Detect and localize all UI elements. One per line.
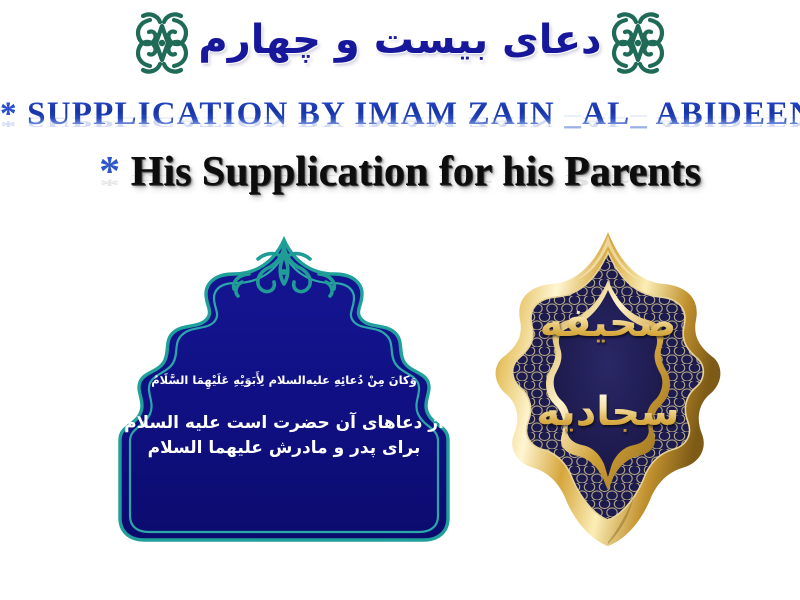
english-subtitle-text: SUPPLICATION BY IMAM ZAIN _AL_ ABIDEEN <box>27 96 800 132</box>
persian-title: دعای بیست و چهارم <box>198 20 601 66</box>
arabesque-ornament-left-icon <box>130 10 194 76</box>
english-title-marker: * <box>99 149 120 195</box>
emblem-shape <box>492 228 724 550</box>
plaque-arabic-line: وَكانَ مِنْ دُعائِهِ عليه‌السلام لِأَبَو… <box>124 372 444 389</box>
blue-plaque: وَكانَ مِنْ دُعائِهِ عليه‌السلام لِأَبَو… <box>108 222 460 562</box>
persian-title-row: دعای بیست و چهارم <box>0 2 800 84</box>
sahifa-sajjadiya-emblem: صحیفه سجادیه <box>492 228 724 550</box>
plaque-persian-line-2: برای پدر و مادرش علیهما السلام <box>124 436 444 461</box>
english-title-text: His Supplication for his Parents <box>131 149 701 195</box>
poster-canvas: دعای بیست و چهارم * SUPPLICATION BY <box>0 0 800 600</box>
english-title: * His Supplication for his Parents <box>0 148 800 196</box>
english-subtitle-marker: * <box>0 96 18 132</box>
plaque-persian-line-1: از دعاهای آن حضرت است علیه السلام <box>124 411 444 436</box>
english-subtitle: * SUPPLICATION BY IMAM ZAIN _AL_ ABIDEEN <box>0 96 800 133</box>
arabesque-ornament-right-icon <box>606 10 670 76</box>
plaque-text-block: وَكانَ مِنْ دُعائِهِ عليه‌السلام لِأَبَو… <box>124 372 444 462</box>
header-zone: دعای بیست و چهارم * SUPPLICATION BY <box>0 0 800 215</box>
